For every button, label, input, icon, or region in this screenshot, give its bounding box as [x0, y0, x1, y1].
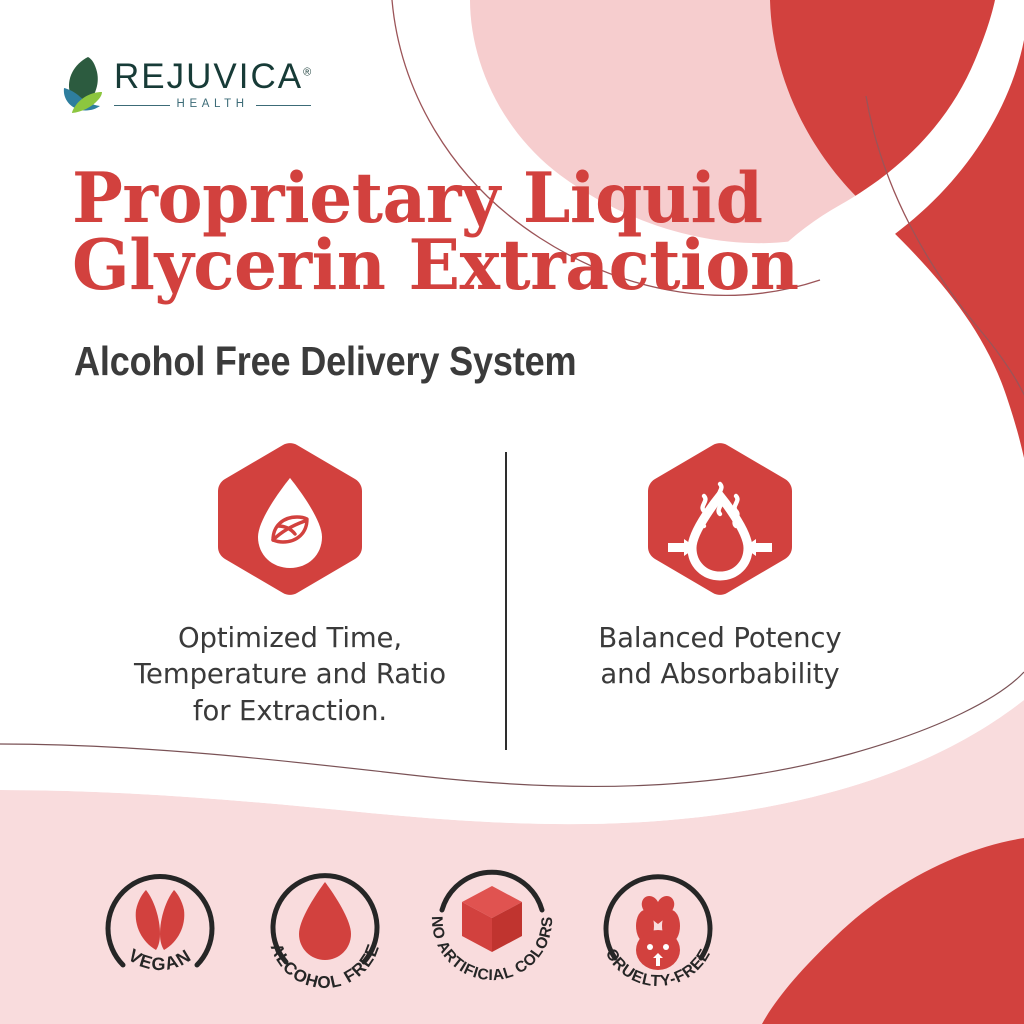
badge-no-artificial-colors[interactable]: NO ARTIFICIAL COLORS: [422, 852, 562, 992]
feature-potency-caption: Balanced Potency and Absorbability: [598, 620, 841, 693]
top-thin-line-b: [866, 96, 1024, 430]
caption-line: Balanced Potency: [598, 620, 841, 656]
certification-badges: VEGAN ALCOHOL FREE: [0, 852, 1024, 992]
droplet-leaf-hexagon-icon: [211, 440, 369, 598]
eye-left: [647, 944, 653, 950]
registered-trademark-icon: ®: [303, 67, 311, 79]
feature-divider: [505, 452, 507, 750]
logo-subtitle: HEALTH: [177, 99, 249, 111]
headline-line-1: Proprietary Liquid: [72, 166, 856, 233]
logo-rule-right: [256, 105, 312, 106]
page-subtitle: Alcohol Free Delivery System: [74, 341, 576, 382]
two-leaves-icon: [136, 890, 185, 950]
rejuvica-health-logo[interactable]: REJUVICA® HEALTH: [62, 55, 311, 113]
badge-vegan[interactable]: VEGAN: [90, 852, 230, 992]
headline-line-2: Glycerin Extraction: [72, 233, 856, 300]
caption-line: and Absorbability: [598, 656, 841, 692]
logo-wordmark-text: REJUVICA: [114, 57, 303, 96]
rabbit-heart-icon: [636, 896, 680, 970]
feature-extraction-caption: Optimized Time, Temperature and Ratio fo…: [134, 620, 446, 729]
promo-graphic: REJUVICA® HEALTH Proprietary Liquid Glyc…: [0, 0, 1024, 1024]
cube-icon: [462, 886, 522, 952]
feature-potency: Balanced Potency and Absorbability: [520, 440, 920, 693]
caption-line: for Extraction.: [134, 693, 446, 729]
feature-row: Optimized Time, Temperature and Ratio fo…: [0, 440, 1024, 760]
eye-right: [663, 944, 669, 950]
page-title: Proprietary Liquid Glycerin Extraction: [72, 166, 872, 300]
badge-cruelty-free[interactable]: CRUELTY-FREE: [588, 852, 728, 992]
feature-extraction: Optimized Time, Temperature and Ratio fo…: [100, 440, 480, 729]
droplet-icon: [299, 882, 351, 960]
caption-line: Temperature and Ratio: [134, 656, 446, 692]
logo-subtitle-row: HEALTH: [114, 99, 311, 111]
leaf-logo-icon: [62, 55, 106, 113]
logo-rule-left: [114, 105, 170, 106]
droplet-heat-arrows-hexagon-icon: [641, 440, 799, 598]
badge-ring: [108, 876, 212, 965]
badge-alcohol-free[interactable]: ALCOHOL FREE: [255, 852, 395, 992]
caption-line: Optimized Time,: [134, 620, 446, 656]
logo-wordmark: REJUVICA®: [114, 59, 311, 94]
badge-label: VEGAN: [125, 945, 195, 974]
